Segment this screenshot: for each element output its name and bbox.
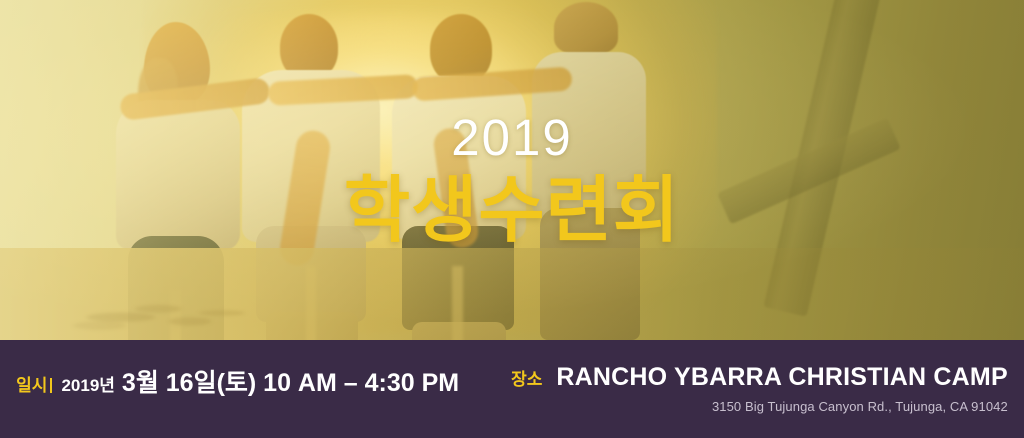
arm-over-shoulder-2 (267, 74, 418, 106)
event-banner: 2019 학생수련회 일시 2019년 3월 16일(토) 10 AM – 4:… (0, 0, 1024, 438)
arm-over-shoulder-3 (411, 66, 572, 101)
date-year: 2019년 (61, 371, 114, 396)
venue-name: RANCHO YBARRA CHRISTIAN CAMP (556, 363, 1007, 392)
venue-name-row: 장소 RANCHO YBARRA CHRISTIAN CAMP (511, 363, 1008, 392)
label-separator-icon (50, 378, 52, 393)
headline-block: 2019 학생수련회 (0, 112, 1024, 248)
event-title-korean: 학생수련회 (0, 175, 1024, 248)
venue-address: 3150 Big Tujunga Canyon Rd., Tujunga, CA… (712, 399, 1008, 414)
date-value: 3월 16일(토) 10 AM – 4:30 PM (122, 363, 459, 399)
ground-texture (41, 292, 307, 334)
date-block: 일시 2019년 3월 16일(토) 10 AM – 4:30 PM (16, 363, 459, 399)
event-info-bar: 일시 2019년 3월 16일(토) 10 AM – 4:30 PM 장소 RA… (0, 340, 1024, 438)
venue-block: 장소 RANCHO YBARRA CHRISTIAN CAMP 3150 Big… (511, 363, 1008, 414)
info-bar-inner: 일시 2019년 3월 16일(토) 10 AM – 4:30 PM 장소 RA… (16, 340, 1008, 414)
date-label: 일시 (16, 371, 47, 396)
event-year: 2019 (0, 112, 1024, 163)
venue-label: 장소 (511, 365, 542, 390)
